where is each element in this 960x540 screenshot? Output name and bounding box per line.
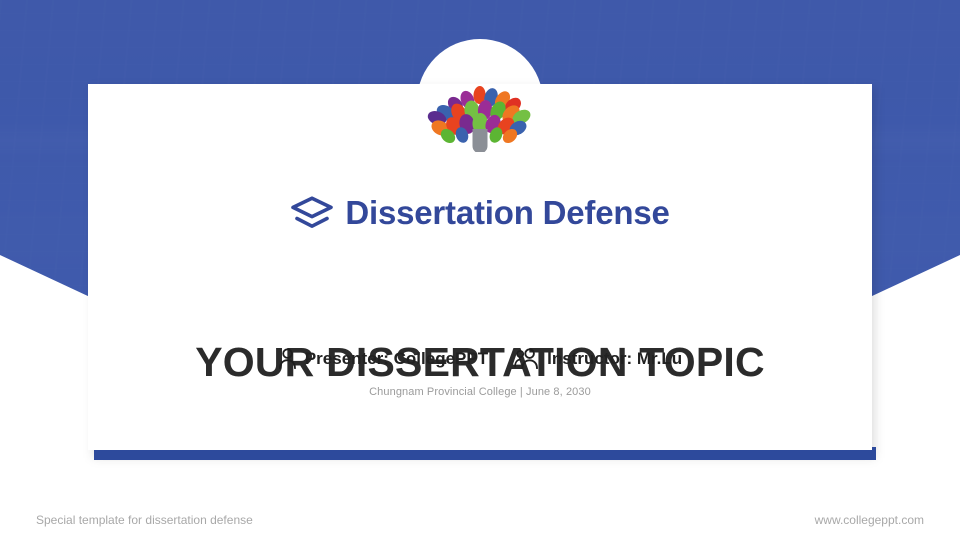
footer-left-text: Special template for dissertation defens… xyxy=(36,513,253,527)
college-and-date: Chungnam Provincial College | June 8, 20… xyxy=(88,386,872,398)
footer-website-link[interactable]: www.collegeppt.com xyxy=(815,513,924,527)
presentation-slide: Dissertation Defense YOUR DISSERTATION T… xyxy=(0,0,960,540)
presenter-block: Presenter: CollegePPT xyxy=(278,348,488,369)
person-icon xyxy=(278,348,297,369)
instructor-label: Instructor: Mr.Lu xyxy=(547,349,682,369)
brand-title: Dissertation Defense xyxy=(345,194,669,232)
presenter-label: Presenter: CollegePPT xyxy=(305,349,488,369)
people-group-icon xyxy=(514,348,539,369)
brand-row: Dissertation Defense xyxy=(88,194,872,232)
colorful-tree-logo xyxy=(424,80,536,152)
graduation-cap-icon xyxy=(290,195,334,231)
people-row: Presenter: CollegePPT Instructor: Mr.Lu xyxy=(88,348,872,369)
instructor-block: Instructor: Mr.Lu xyxy=(514,348,682,369)
